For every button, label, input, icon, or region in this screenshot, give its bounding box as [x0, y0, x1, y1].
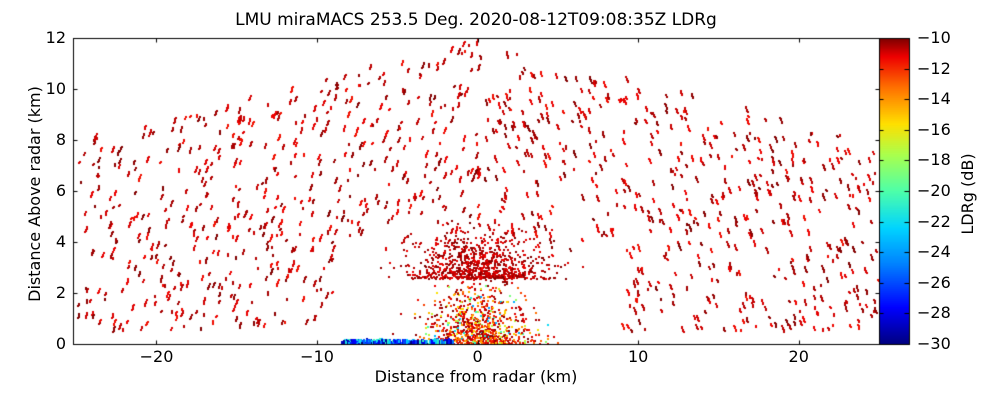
y-tick-label: 10 [26, 81, 66, 97]
y-tick-label: 6 [26, 183, 66, 199]
x-axis-label: Distance from radar (km) [73, 369, 879, 385]
x-tick-label: 10 [628, 349, 648, 365]
colorbar-tick-label: −30 [917, 336, 951, 352]
colorbar-tick-label: −14 [917, 91, 951, 107]
colorbar-tick-label: −24 [917, 244, 951, 260]
radar-plot-figure: LMU miraMACS 253.5 Deg. 2020-08-12T09:08… [0, 0, 1000, 400]
page-title: LMU miraMACS 253.5 Deg. 2020-08-12T09:08… [0, 12, 952, 29]
x-tick-label: −10 [300, 349, 334, 365]
y-tick-label: 4 [26, 234, 66, 250]
colorbar-tick-label: −28 [917, 305, 951, 321]
colorbar-label: LDRg (dB) [960, 41, 976, 347]
colorbar-tick-label: −22 [917, 214, 951, 230]
x-tick-label: 20 [789, 349, 809, 365]
colorbar-tick-label: −18 [917, 152, 951, 168]
y-tick-label: 0 [26, 336, 66, 352]
y-tick-label: 12 [26, 30, 66, 46]
colorbar-tick-label: −12 [917, 61, 951, 77]
x-tick-label: −20 [140, 349, 174, 365]
x-tick-label: 0 [473, 349, 483, 365]
colorbar-tick-label: −26 [917, 275, 951, 291]
y-tick-label: 2 [26, 285, 66, 301]
colorbar-tick-label: −10 [917, 30, 951, 46]
y-tick-label: 8 [26, 132, 66, 148]
scatter-plot-canvas [0, 0, 1000, 400]
colorbar-tick-label: −20 [917, 183, 951, 199]
colorbar-tick-label: −16 [917, 122, 951, 138]
